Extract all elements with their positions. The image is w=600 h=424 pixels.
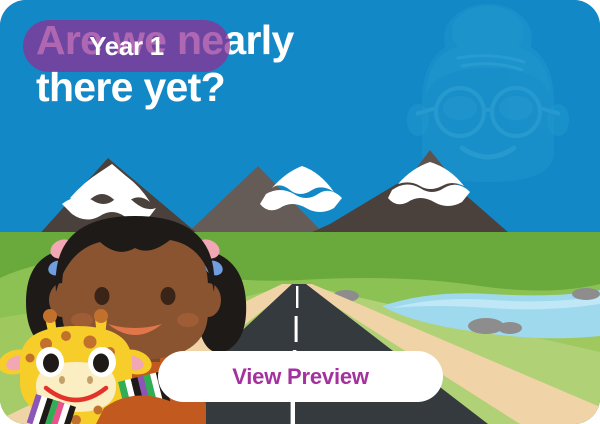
view-preview-button[interactable]: View Preview <box>158 351 443 402</box>
girl-eye-right <box>161 287 176 305</box>
year-badge: Year 1 <box>23 20 230 72</box>
year-badge-label: Year 1 <box>89 31 164 62</box>
view-preview-button-label: View Preview <box>232 364 369 390</box>
promo-card[interactable]: Are we nearly there yet? Year 1 View Pre… <box>0 0 600 424</box>
girl-eye-left <box>95 287 110 305</box>
